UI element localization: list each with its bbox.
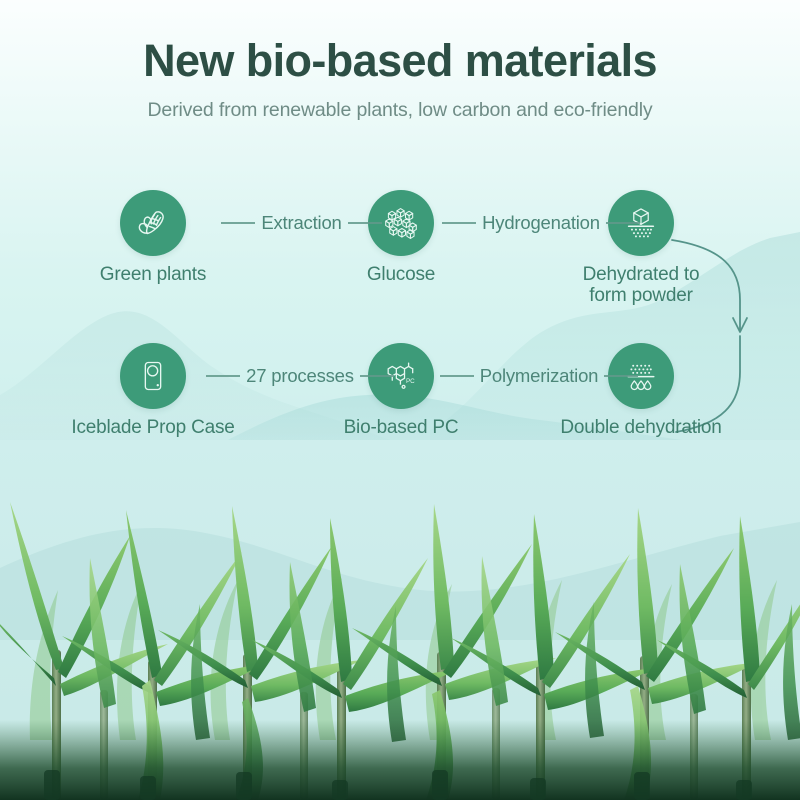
connector-line-right <box>604 375 638 376</box>
flow-node-green-plants[interactable]: Green plants <box>53 190 253 286</box>
corn-icon <box>120 190 186 256</box>
flow-node-label: Double dehydration <box>541 418 741 439</box>
flow-connector-hydrogenation: Hydrogenation <box>428 212 654 234</box>
connector-label: Polymerization <box>480 365 599 387</box>
flow-node-label: Green plants <box>53 265 253 286</box>
flow-connector-27-processes: 27 processes <box>186 365 414 387</box>
flow-node-iceblade-prop-case[interactable]: Iceblade Prop Case <box>53 343 253 439</box>
phone-case-icon <box>120 343 186 409</box>
connector-line-left <box>442 222 476 223</box>
sugarcane-illustration <box>0 440 800 800</box>
flow-node-label: Bio-based PC <box>301 418 501 439</box>
connector-label: 27 processes <box>246 365 354 387</box>
flow-node-label: Iceblade Prop Case <box>53 418 253 439</box>
connector-line-right <box>348 222 382 223</box>
flow-connector-extraction: Extraction <box>190 212 413 234</box>
connector-line-left <box>440 375 474 376</box>
connector-label: Hydrogenation <box>482 212 600 234</box>
flow-node-dehydrated-powder[interactable]: Dehydrated to form powder <box>541 190 741 306</box>
connector-label: Extraction <box>261 212 341 234</box>
flow-node-label: Glucose <box>301 265 501 286</box>
flow-node-double-dehydration[interactable]: Double dehydration <box>541 343 741 439</box>
flow-node-bio-based-pc[interactable]: PC Bio-based PC <box>301 343 501 439</box>
sugarcane-field-photo <box>0 440 800 800</box>
process-flow-diagram: Green plants <box>0 0 800 470</box>
infographic-poster: New bio-based materials Derived from ren… <box>0 0 800 800</box>
flow-connector-polymerization: Polymerization <box>424 365 654 387</box>
connector-line-right <box>606 222 640 223</box>
flow-node-glucose[interactable]: Glucose <box>301 190 501 286</box>
connector-line-left <box>206 375 240 376</box>
connector-line-left <box>221 222 255 223</box>
flow-node-label: Dehydrated to form powder <box>541 265 741 306</box>
connector-line-right <box>360 375 394 376</box>
